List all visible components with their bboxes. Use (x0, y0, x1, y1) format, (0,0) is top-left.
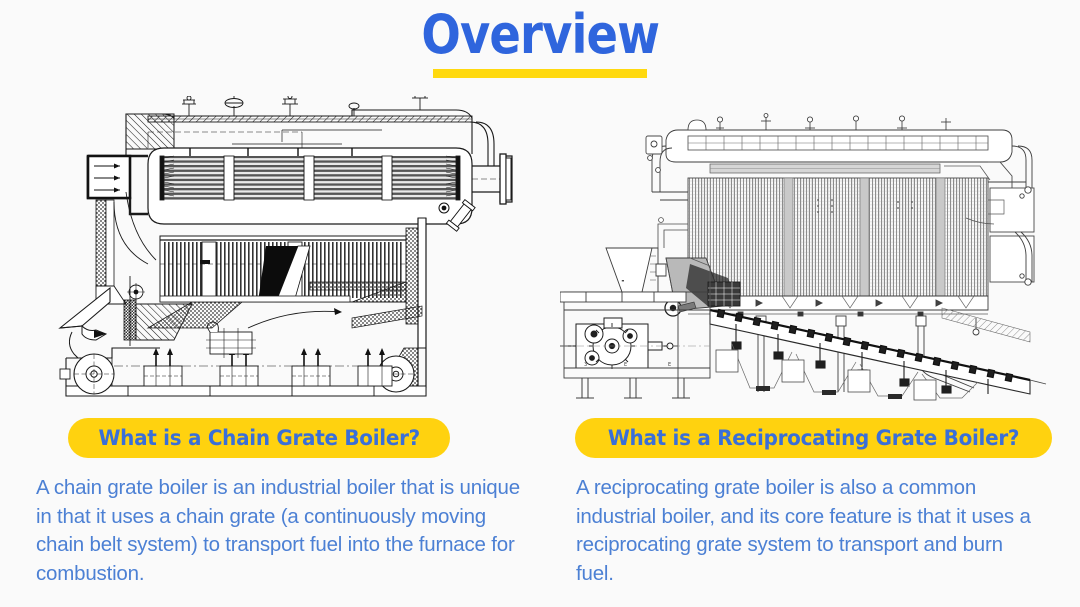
page-title-block: Overview (0, 4, 1080, 66)
body-text-reciprocating-grate: A reciprocating grate boiler is also a c… (576, 474, 1046, 588)
page-title: Overview (421, 4, 659, 66)
svg-text:E: E (668, 362, 671, 368)
svg-text:-: - (622, 278, 624, 284)
slide-root: Overview (0, 0, 1080, 607)
reciprocating-grate-boiler-diagram: - (560, 96, 1060, 402)
body-text-chain-grate: A chain grate boiler is an industrial bo… (36, 474, 534, 588)
chain-grate-boiler-svg (52, 96, 532, 402)
chain-grate-boiler-diagram (52, 96, 532, 402)
badge-reciprocating-grate-label: What is a Reciprocating Grate Boiler? (608, 428, 1019, 449)
reciprocating-grate-boiler-svg: - (560, 96, 1060, 402)
badge-chain-grate-label: What is a Chain Grate Boiler? (98, 428, 419, 449)
badge-reciprocating-grate[interactable]: What is a Reciprocating Grate Boiler? (575, 418, 1052, 458)
svg-text:E: E (624, 362, 627, 368)
badge-chain-grate[interactable]: What is a Chain Grate Boiler? (68, 418, 450, 458)
svg-text:3: 3 (584, 362, 587, 368)
title-underline-accent (433, 69, 647, 78)
